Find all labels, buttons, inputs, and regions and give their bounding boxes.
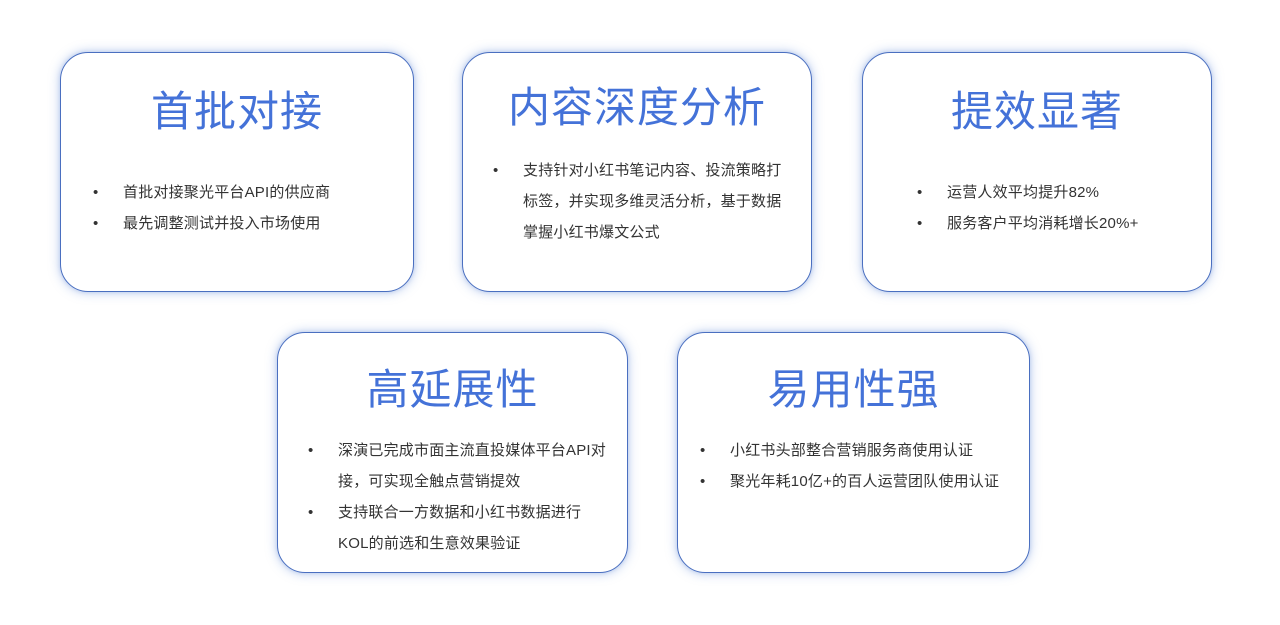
list-item: • 最先调整测试并投入市场使用 (91, 208, 395, 239)
feature-card-extensibility[interactable]: 高延展性 • 深演已完成市面主流直投媒体平台API对接，可实现全触点营销提效 •… (277, 332, 628, 573)
slide-canvas: 首批对接 • 首批对接聚光平台API的供应商 • 最先调整测试并投入市场使用 内… (0, 0, 1280, 625)
feature-card-content-analysis[interactable]: 内容深度分析 • 支持针对小红书笔记内容、投流策略打标签，并实现多维灵活分析，基… (462, 52, 812, 292)
list-item: • 深演已完成市面主流直投媒体平台API对接，可实现全触点营销提效 (306, 435, 609, 497)
card-title: 首批对接 (151, 91, 323, 133)
card-bullet-list: • 运营人效平均提升82% • 服务客户平均消耗增长20%+ (863, 177, 1211, 239)
list-item: • 服务客户平均消耗增长20%+ (915, 208, 1193, 239)
list-item: • 支持针对小红书笔记内容、投流策略打标签，并实现多维灵活分析，基于数据掌握小红… (491, 155, 789, 248)
card-bullet-list: • 小红书头部整合营销服务商使用认证 • 聚光年耗10亿+的百人运营团队使用认证 (678, 435, 1029, 497)
list-item-text: 小红书头部整合营销服务商使用认证 (730, 435, 1012, 466)
list-item-text: 服务客户平均消耗增长20%+ (947, 208, 1193, 239)
bullet-point-icon: • (91, 208, 123, 239)
list-item-text: 首批对接聚光平台API的供应商 (123, 177, 395, 208)
list-item-text: 聚光年耗10亿+的百人运营团队使用认证 (730, 466, 1012, 497)
feature-card-efficiency[interactable]: 提效显著 • 运营人效平均提升82% • 服务客户平均消耗增长20%+ (862, 52, 1212, 292)
list-item: • 小红书头部整合营销服务商使用认证 (698, 435, 1015, 466)
card-title: 易用性强 (767, 369, 939, 411)
bullet-point-icon: • (306, 435, 338, 466)
feature-card-usability[interactable]: 易用性强 • 小红书头部整合营销服务商使用认证 • 聚光年耗10亿+的百人运营团… (677, 332, 1030, 573)
bullet-point-icon: • (306, 497, 338, 528)
card-bullet-list: • 支持针对小红书笔记内容、投流策略打标签，并实现多维灵活分析，基于数据掌握小红… (463, 155, 811, 248)
bullet-point-icon: • (698, 435, 730, 466)
bullet-point-icon: • (491, 155, 523, 186)
card-title: 提效显著 (951, 91, 1123, 133)
card-title: 内容深度分析 (508, 87, 766, 129)
list-item-text: 最先调整测试并投入市场使用 (123, 208, 395, 239)
bullet-point-icon: • (698, 466, 730, 497)
list-item: • 运营人效平均提升82% (915, 177, 1193, 208)
bullet-point-icon: • (91, 177, 123, 208)
bullet-point-icon: • (915, 208, 947, 239)
card-bullet-list: • 首批对接聚光平台API的供应商 • 最先调整测试并投入市场使用 (61, 177, 413, 239)
card-title: 高延展性 (366, 369, 538, 411)
list-item-text: 运营人效平均提升82% (947, 177, 1193, 208)
list-item-text: 深演已完成市面主流直投媒体平台API对接，可实现全触点营销提效 (338, 435, 608, 497)
card-bullet-list: • 深演已完成市面主流直投媒体平台API对接，可实现全触点营销提效 • 支持联合… (278, 435, 627, 559)
list-item: • 聚光年耗10亿+的百人运营团队使用认证 (698, 466, 1015, 497)
list-item-text: 支持针对小红书笔记内容、投流策略打标签，并实现多维灵活分析，基于数据掌握小红书爆… (523, 155, 785, 248)
feature-card-first-integration[interactable]: 首批对接 • 首批对接聚光平台API的供应商 • 最先调整测试并投入市场使用 (60, 52, 414, 292)
list-item: • 支持联合一方数据和小红书数据进行KOL的前选和生意效果验证 (306, 497, 609, 559)
bullet-point-icon: • (915, 177, 947, 208)
list-item-text: 支持联合一方数据和小红书数据进行KOL的前选和生意效果验证 (338, 497, 608, 559)
list-item: • 首批对接聚光平台API的供应商 (91, 177, 395, 208)
